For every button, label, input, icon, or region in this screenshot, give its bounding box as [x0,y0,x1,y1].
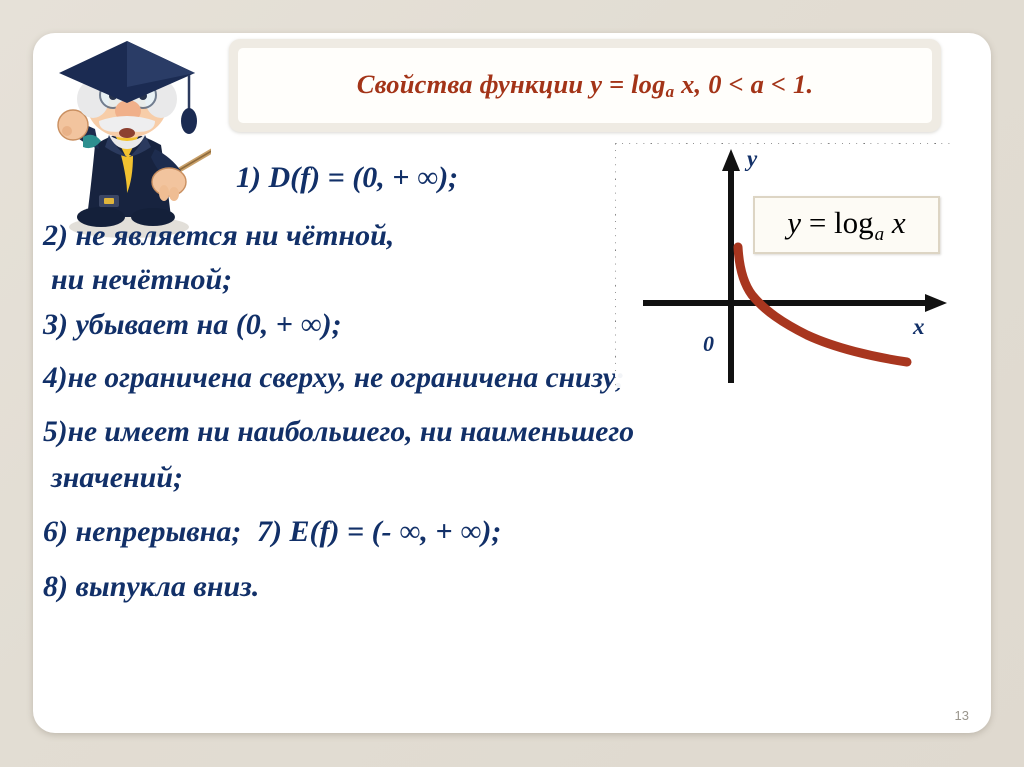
log-function-graph: y x 0 y = loga x [615,143,952,388]
property-line-2: 2) не является ни чётной, [43,221,394,251]
professor-mascot-icon [43,37,211,242]
graph-axes-and-curve [615,143,952,388]
title-subscript: a [666,82,675,101]
slide-canvas: Свойства функции y = loga x, 0 < a < 1. … [0,0,1024,767]
title-main: Свойства функции y = log [357,69,666,99]
formula-box: y = loga x [753,196,940,254]
title-banner: Свойства функции y = loga x, 0 < a < 1. [229,39,941,132]
property-line-6: 6) непрерывна; [43,517,241,547]
property-line-1: 1) D(f) = (0, + ∞); [236,163,458,193]
formula-text: y = loga x [787,207,905,244]
property-line-2-cont: ни нечётной; [51,265,232,295]
property-line-8: 8) выпукла вниз. [43,572,259,602]
x-axis-label: x [913,315,925,338]
formula-arg: x [892,205,906,240]
property-line-5-cont: значений; [51,463,183,493]
formula-log: log [834,205,874,240]
page-number: 13 [955,708,969,723]
formula-lhs: y [787,205,801,240]
page-title: Свойства функции y = loga x, 0 < a < 1. [357,69,814,102]
property-line-5: 5)не имеет ни наибольшего, ни наименьшег… [43,418,634,448]
slide-card: Свойства функции y = loga x, 0 < a < 1. … [33,33,991,733]
title-tail: x, 0 < a < 1. [674,69,813,99]
formula-equals: = [809,205,826,240]
origin-label: 0 [703,333,714,355]
formula-base: a [874,224,885,245]
property-line-7: 7) E(f) = (- ∞, + ∞); [257,517,501,547]
y-axis-label: y [747,147,757,170]
title-banner-inner: Свойства функции y = loga x, 0 < a < 1. [238,48,932,123]
property-line-3: 3) убывает на (0, + ∞); [43,310,342,340]
property-line-4: 4)не ограничена сверху, не ограничена сн… [43,364,625,394]
